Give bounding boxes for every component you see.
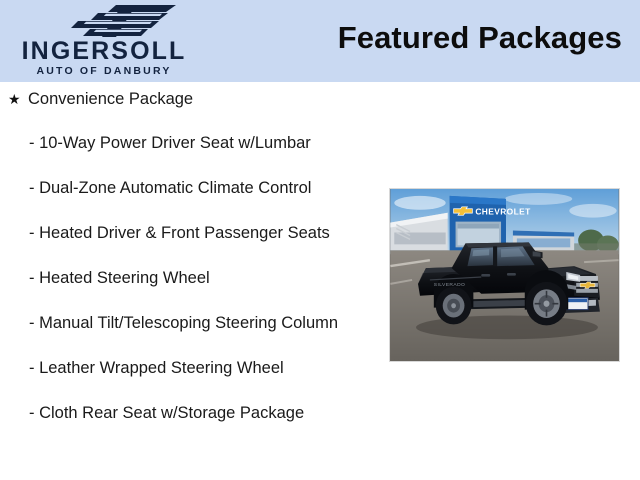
feature-text: - Manual Tilt/Telescoping Steering Colum… bbox=[29, 314, 338, 332]
svg-text:CHEVROLET: CHEVROLET bbox=[475, 207, 531, 217]
feature-text: - Cloth Rear Seat w/Storage Package bbox=[29, 404, 304, 422]
feature-text: - Dual-Zone Automatic Climate Control bbox=[29, 179, 311, 197]
list-item: - Heated Steering Wheel bbox=[8, 268, 380, 289]
list-item: - Manual Tilt/Telescoping Steering Colum… bbox=[8, 313, 380, 334]
brand-tagline: AUTO OF DANBURY bbox=[4, 66, 204, 77]
feature-text: - Leather Wrapped Steering Wheel bbox=[29, 359, 284, 377]
package-name: Convenience Package bbox=[28, 89, 193, 109]
page-title: Featured Packages bbox=[338, 21, 622, 55]
svg-text:SILVERADO: SILVERADO bbox=[434, 282, 465, 288]
vehicle-photo: CHEVROLET bbox=[389, 188, 620, 362]
list-item: - 10-Way Power Driver Seat w/Lumbar bbox=[8, 133, 380, 154]
list-item: - Leather Wrapped Steering Wheel bbox=[8, 358, 380, 379]
brand-wordmark: INGERSOLL bbox=[4, 39, 204, 64]
package-name-row: ★ Convenience Package bbox=[8, 89, 380, 109]
page-content: ★ Convenience Package - 10-Way Power Dri… bbox=[0, 82, 640, 480]
list-item: - Dual-Zone Automatic Climate Control bbox=[8, 178, 380, 199]
list-item: - Cloth Rear Seat w/Storage Package bbox=[8, 403, 380, 424]
list-item: - Heated Driver & Front Passenger Seats bbox=[8, 223, 380, 244]
feature-text: - 10-Way Power Driver Seat w/Lumbar bbox=[29, 134, 311, 152]
feature-text: - Heated Steering Wheel bbox=[29, 269, 210, 287]
feature-text: - Heated Driver & Front Passenger Seats bbox=[29, 224, 330, 242]
page-header: INGERSOLL AUTO OF DANBURY Featured Packa… bbox=[0, 0, 640, 82]
star-icon: ★ bbox=[8, 89, 28, 109]
dealership-logo: INGERSOLL AUTO OF DANBURY bbox=[4, 2, 204, 80]
ingersoll-wing-mark-icon bbox=[56, 4, 184, 38]
package-feature-list: ★ Convenience Package - 10-Way Power Dri… bbox=[8, 89, 380, 424]
